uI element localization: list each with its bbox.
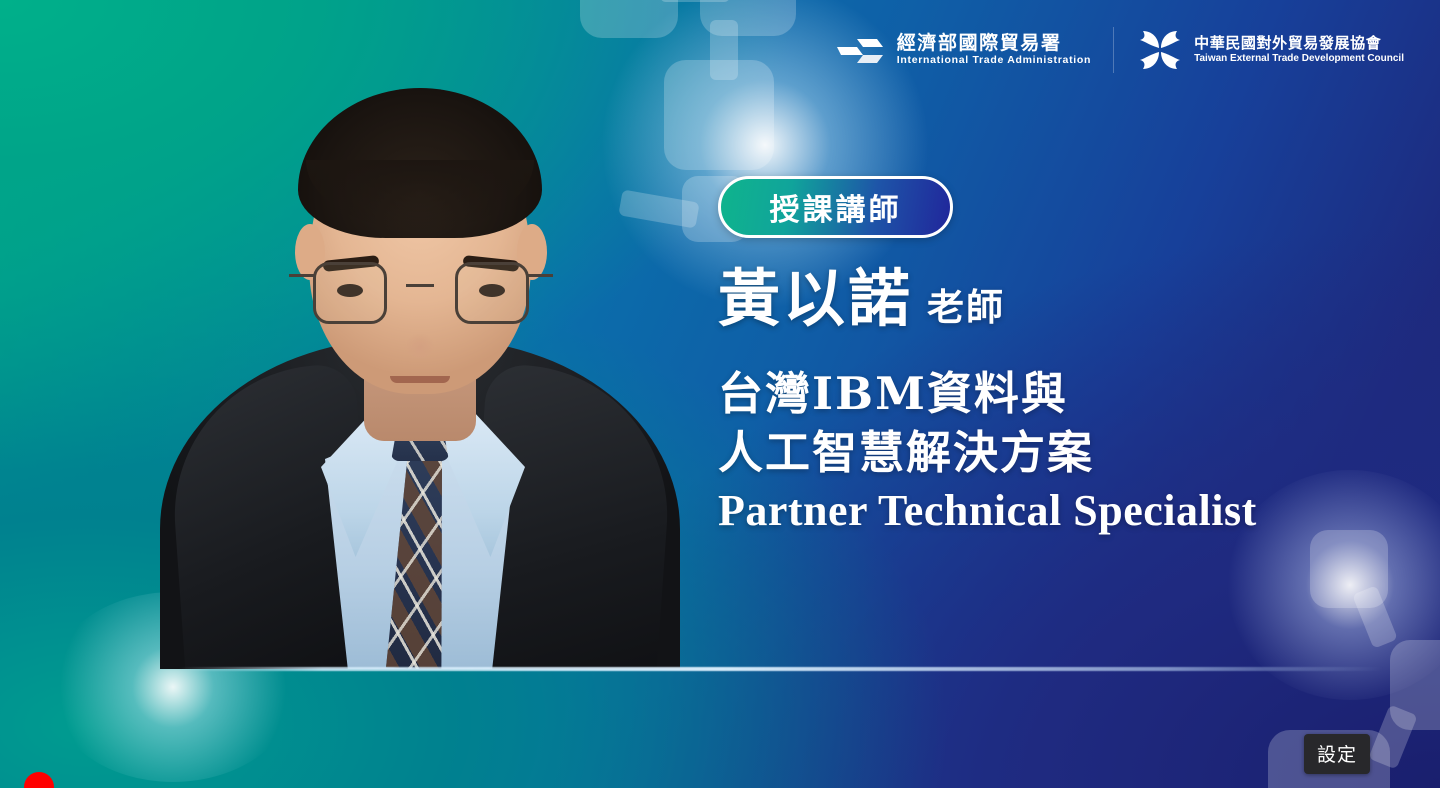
ita-logo-en: International Trade Administration — [897, 55, 1091, 67]
instructor-name: 黃以諾 — [718, 268, 913, 330]
mouth — [390, 376, 450, 383]
eyeglasses-arm-left — [289, 274, 315, 277]
arrow-chevron-logo-icon — [837, 35, 887, 65]
logo-international-trade-administration: 經濟部國際貿易署 International Trade Administrat… — [837, 33, 1091, 66]
logo-taitra: 中華民國對外貿易發展協會 Taiwan External Trade Devel… — [1136, 26, 1404, 74]
eyeglasses-bridge — [406, 284, 434, 287]
role-line-2: 人工智慧解決方案 — [718, 424, 1418, 483]
role-line-1: 台灣IBM資料與 — [718, 365, 1418, 424]
instructor-role: 台灣IBM資料與 人工智慧解決方案 Partner Technical Spec… — [718, 365, 1418, 539]
ita-logo-zh: 經濟部國際貿易署 — [897, 33, 1091, 54]
instructor-badge: 授課講師 — [718, 176, 953, 238]
instructor-name-suffix: 老師 — [927, 277, 1005, 331]
pinwheel-flower-logo-icon — [1136, 26, 1184, 74]
instructor-photo — [155, 72, 685, 669]
video-slide: 經濟部國際貿易署 International Trade Administrat… — [0, 0, 1440, 788]
taitra-logo-en: Taiwan External Trade Development Counci… — [1194, 53, 1404, 64]
hair — [298, 88, 542, 238]
eyeglasses-lens-right — [455, 262, 529, 324]
horizontal-light-line — [178, 667, 1383, 671]
settings-tooltip[interactable]: 設定 — [1304, 734, 1370, 774]
eyeglasses-lens-left — [313, 262, 387, 324]
logo-bar: 經濟部國際貿易署 International Trade Administrat… — [837, 26, 1404, 74]
instructor-info-panel: 授課講師 黃以諾 老師 台灣IBM資料與 人工智慧解決方案 Partner Te… — [718, 176, 1418, 539]
taitra-logo-zh: 中華民國對外貿易發展協會 — [1194, 36, 1404, 53]
instructor-name-row: 黃以諾 老師 — [718, 268, 1418, 331]
eyeglasses-arm-right — [527, 274, 553, 277]
progress-scrubber-dot[interactable] — [24, 772, 54, 788]
instructor-badge-label: 授課講師 — [770, 185, 902, 229]
logo-divider — [1113, 27, 1114, 73]
role-line-3: Partner Technical Specialist — [718, 482, 1418, 539]
nose — [403, 324, 437, 358]
